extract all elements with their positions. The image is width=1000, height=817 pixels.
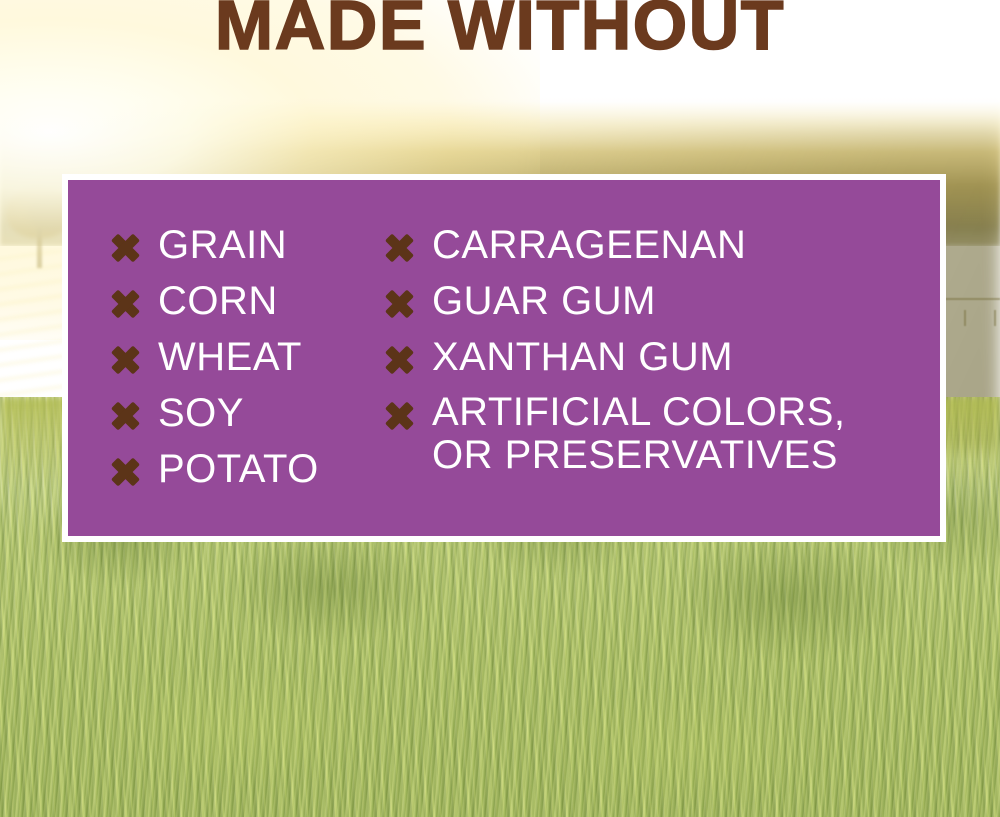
fence-post xyxy=(964,310,966,326)
list-item: GUAR GUM xyxy=(384,280,940,336)
page-title: MADE WITHOUT xyxy=(0,0,1000,63)
list-item-label: CARRAGEENAN xyxy=(432,223,746,267)
fence-post xyxy=(994,310,996,326)
list-item-label: WHEAT xyxy=(158,335,302,379)
list-item: WHEAT xyxy=(110,336,378,392)
list-item-label: ARTIFICIAL COLORS, OR PRESERVATIVES xyxy=(432,391,846,477)
list-item: GRAIN xyxy=(110,224,378,280)
list-item: SOY xyxy=(110,392,378,448)
list-item: CARRAGEENAN xyxy=(384,224,940,280)
exclusion-columns: GRAIN CORN WHEAT SOY xyxy=(68,224,940,504)
list-item-label: GUAR GUM xyxy=(432,279,656,323)
x-mark-icon xyxy=(384,289,414,319)
exclusion-column-right: CARRAGEENAN GUAR GUM XANTHAN GUM ARTIFIC… xyxy=(378,224,940,504)
x-mark-icon xyxy=(110,457,140,487)
list-item-label: SOY xyxy=(158,391,244,435)
promo-graphic: MADE WITHOUT GRAIN CORN WHEAT xyxy=(0,0,1000,817)
list-item-label: GRAIN xyxy=(158,223,287,267)
x-mark-icon xyxy=(110,289,140,319)
exclusion-column-left: GRAIN CORN WHEAT SOY xyxy=(68,224,378,504)
x-mark-icon xyxy=(384,401,414,431)
list-item-label: POTATO xyxy=(158,447,319,491)
list-item: POTATO xyxy=(110,448,378,504)
list-item: XANTHAN GUM xyxy=(384,336,940,392)
panel-inner: GRAIN CORN WHEAT SOY xyxy=(68,180,940,536)
x-mark-icon xyxy=(110,233,140,263)
x-mark-icon xyxy=(384,233,414,263)
list-item: CORN xyxy=(110,280,378,336)
made-without-panel: GRAIN CORN WHEAT SOY xyxy=(62,174,946,542)
tree-trunk xyxy=(37,228,42,268)
x-mark-icon xyxy=(384,345,414,375)
list-item: ARTIFICIAL COLORS, OR PRESERVATIVES xyxy=(384,392,940,492)
list-item-label: XANTHAN GUM xyxy=(432,335,733,379)
x-mark-icon xyxy=(110,401,140,431)
x-mark-icon xyxy=(110,345,140,375)
list-item-label: CORN xyxy=(158,279,278,323)
